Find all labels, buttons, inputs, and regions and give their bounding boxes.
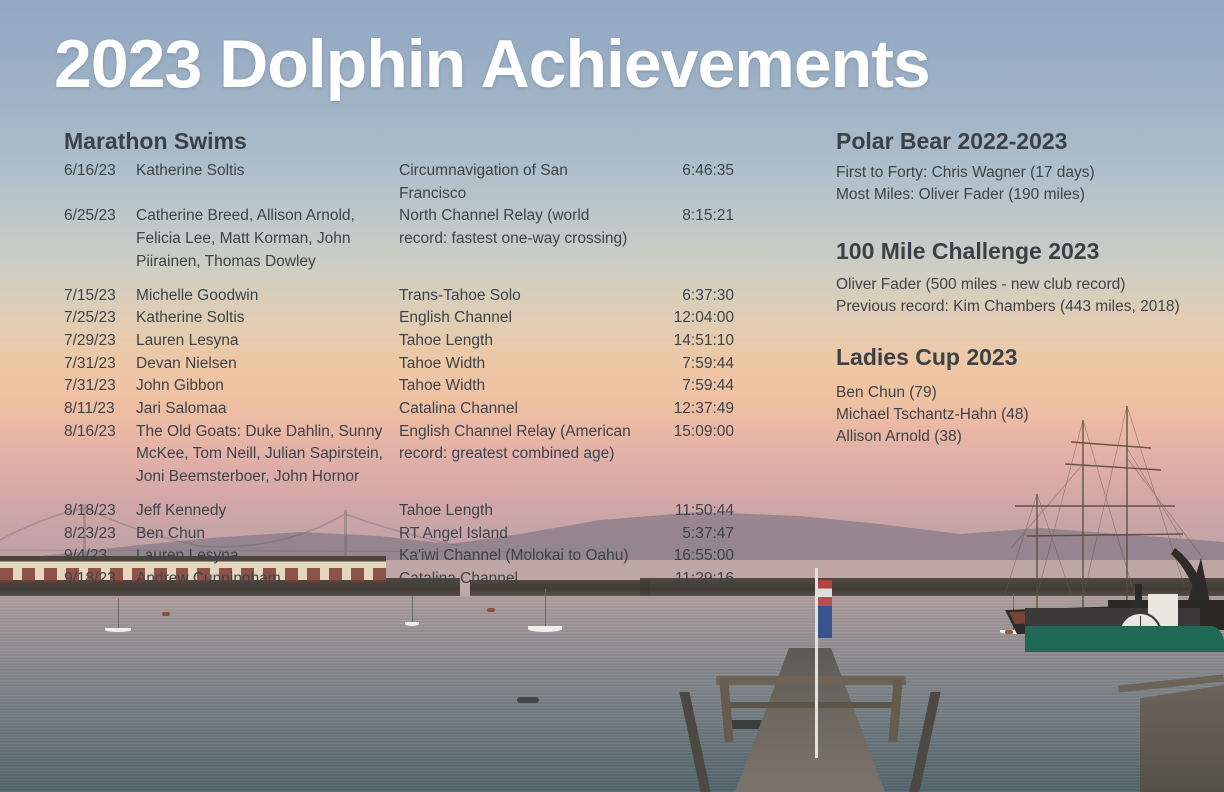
cell-time: 6:37:30 [639,285,734,308]
row-spacer [64,274,734,285]
cell-date: 8/23/23 [64,523,136,546]
cell-time: 11:50:44 [639,500,734,523]
poster-content: 2023 Dolphin Achievements Marathon Swims… [0,0,1224,792]
cell-date: 9/4/23 [64,545,136,568]
cell-event: Catalina Channel [399,398,639,421]
cell-time: 12:04:00 [639,307,734,330]
polar-bear-list: First to Forty: Chris Wagner (17 days) M… [836,162,1095,206]
cell-swimmer: Jari Salomaa [136,398,399,421]
cell-date: 8/18/23 [64,500,136,523]
cell-date: 6/16/23 [64,160,136,183]
cell-event: Tahoe Width [399,375,639,398]
cell-time: 16:55:00 [639,545,734,568]
cell-swimmer: Catherine Breed, Allison Arnold, Felicia… [136,205,399,273]
hundred-mile-list: Oliver Fader (500 miles - new club recor… [836,274,1180,318]
list-item: Allison Arnold (38) [836,426,1029,448]
row-spacer [64,489,734,500]
cell-date: 8/16/23 [64,421,136,444]
cell-time: 6:46:35 [639,160,734,183]
table-row: 6/25/23 Catherine Breed, Allison Arnold,… [64,205,734,273]
table-row: 7/31/23 Devan Nielsen Tahoe Width 7:59:4… [64,353,734,376]
table-row: 7/25/23 Katherine Soltis English Channel… [64,307,734,330]
cell-event: Tahoe Width [399,353,639,376]
cell-date: 7/25/23 [64,307,136,330]
cell-time: 7:59:44 [639,353,734,376]
cell-swimmer: Lauren Lesyna [136,330,399,353]
table-row: 6/16/23 Katherine Soltis Circumnavigatio… [64,160,734,205]
cell-event: Tahoe Length [399,330,639,353]
cell-date: 6/25/23 [64,205,136,228]
cell-time: 12:37:49 [639,398,734,421]
table-row: 8/11/23 Jari Salomaa Catalina Channel 12… [64,398,734,421]
cell-swimmer: Ben Chun [136,523,399,546]
section-heading-100-mile-challenge: 100 Mile Challenge 2023 [836,238,1099,265]
cell-swimmer: Michelle Goodwin [136,285,399,308]
cell-swimmer: The Old Goats: Duke Dahlin, Sunny McKee,… [136,421,399,489]
table-row: 8/23/23 Ben Chun RT Angel Island 5:37:47 [64,523,734,546]
list-item: First to Forty: Chris Wagner (17 days) [836,162,1095,184]
table-row: 9/4/23 Lauren Lesyna Ka'iwi Channel (Mol… [64,545,734,568]
cell-swimmer: Jeff Kennedy [136,500,399,523]
table-row: 8/16/23 The Old Goats: Duke Dahlin, Sunn… [64,421,734,489]
table-row: 7/15/23 Michelle Goodwin Trans-Tahoe Sol… [64,285,734,308]
ladies-cup-list: Ben Chun (79) Michael Tschantz-Hahn (48)… [836,382,1029,448]
list-item: Oliver Fader (500 miles - new club recor… [836,274,1180,296]
cell-event: North Channel Relay (world record: faste… [399,205,639,250]
cell-time: 5:37:47 [639,523,734,546]
cell-swimmer: Devan Nielsen [136,353,399,376]
cell-event: RT Angel Island [399,523,639,546]
section-heading-marathon-swims: Marathon Swims [64,128,247,155]
cell-time: 14:51:10 [639,330,734,353]
cell-swimmer: John Gibbon [136,375,399,398]
table-row: 7/29/23 Lauren Lesyna Tahoe Length 14:51… [64,330,734,353]
cell-event: Tahoe Length [399,500,639,523]
cell-time: 15:09:00 [639,421,734,444]
cell-date: 7/15/23 [64,285,136,308]
cell-event: Trans-Tahoe Solo [399,285,639,308]
cell-date: 9/18/23 [64,568,136,591]
list-item: Ben Chun (79) [836,382,1029,404]
cell-time: 7:59:44 [639,375,734,398]
list-item: Previous record: Kim Chambers (443 miles… [836,296,1180,318]
page-title: 2023 Dolphin Achievements [54,30,930,98]
section-heading-ladies-cup: Ladies Cup 2023 [836,344,1018,371]
cell-event: English Channel Relay (American record: … [399,421,639,466]
cell-time: 11:29:16 [639,568,734,591]
cell-event: Circumnavigation of San Francisco [399,160,639,205]
cell-swimmer: Lauren Lesyna [136,545,399,568]
list-item: Michael Tschantz-Hahn (48) [836,404,1029,426]
table-row: 7/31/23 John Gibbon Tahoe Width 7:59:44 [64,375,734,398]
marathon-swims-table: 6/16/23 Katherine Soltis Circumnavigatio… [64,160,734,591]
cell-date: 7/31/23 [64,375,136,398]
cell-date: 7/29/23 [64,330,136,353]
list-item: Most Miles: Oliver Fader (190 miles) [836,184,1095,206]
cell-time: 8:15:21 [639,205,734,228]
cell-swimmer: Andrew Cunningham [136,568,399,591]
cell-date: 7/31/23 [64,353,136,376]
cell-event: Ka'iwi Channel (Molokai to Oahu) [399,545,639,568]
section-heading-polar-bear: Polar Bear 2022-2023 [836,128,1067,155]
table-row: 9/18/23 Andrew Cunningham Catalina Chann… [64,568,734,591]
cell-date: 8/11/23 [64,398,136,421]
cell-event: English Channel [399,307,639,330]
cell-swimmer: Katherine Soltis [136,307,399,330]
cell-swimmer: Katherine Soltis [136,160,399,183]
cell-event: Catalina Channel [399,568,639,591]
table-row: 8/18/23 Jeff Kennedy Tahoe Length 11:50:… [64,500,734,523]
